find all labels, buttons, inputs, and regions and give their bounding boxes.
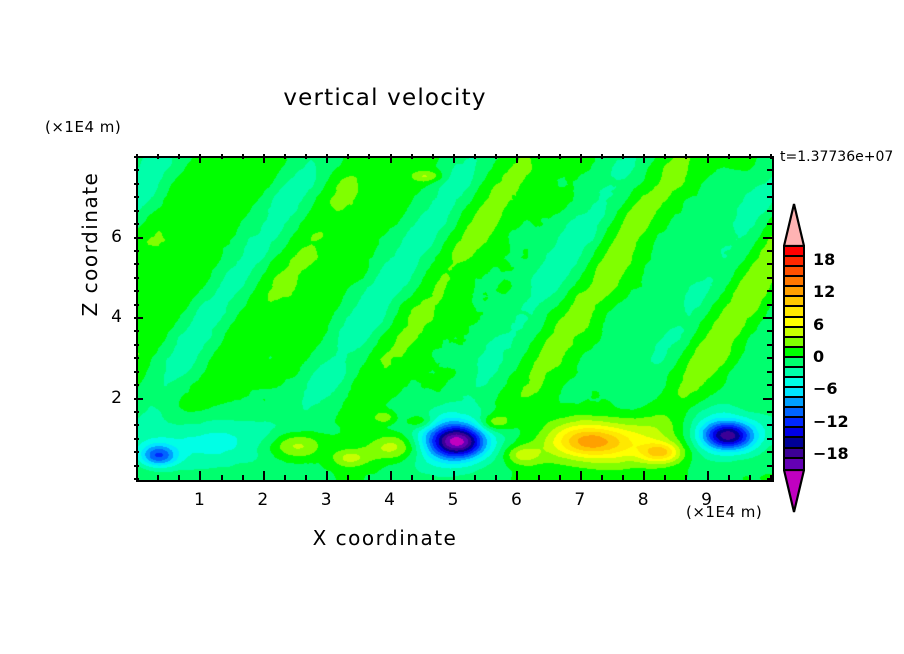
x-tick-label: 8 [628, 490, 658, 510]
x-tick-major [263, 154, 265, 163]
colorbar-band [785, 247, 803, 257]
x-tick-major [516, 154, 518, 163]
x-tick-minor [664, 475, 666, 480]
x-tick-major [326, 471, 328, 480]
y-tick-major [763, 317, 772, 319]
colorbar-band [785, 277, 803, 287]
colorbar-band [785, 338, 803, 348]
y-tick-minor [134, 263, 139, 265]
y-axis-unit-label: (×1E4 m) [45, 118, 121, 136]
x-tick-minor [157, 154, 159, 159]
x-axis-title: X coordinate [0, 526, 770, 550]
colorbar-band [785, 267, 803, 277]
colorbar-tick-label: 6 [813, 315, 824, 334]
colorbar-band [785, 297, 803, 307]
colorbar-tick-label: 18 [813, 250, 835, 269]
y-tick-minor [767, 478, 772, 480]
x-tick-label: 7 [565, 490, 595, 510]
x-tick-label: 2 [248, 490, 278, 510]
page-title: vertical velocity [0, 85, 770, 111]
y-tick-minor [134, 384, 139, 386]
x-tick-major [453, 471, 455, 480]
x-tick-label: 5 [438, 490, 468, 510]
x-tick-major [516, 471, 518, 480]
x-tick-minor [728, 154, 730, 159]
y-tick-minor [134, 223, 139, 225]
y-tick-minor [134, 156, 139, 158]
y-tick-minor [134, 424, 139, 426]
y-tick-label: 6 [92, 227, 122, 247]
y-tick-minor [767, 263, 772, 265]
x-tick-minor [432, 154, 434, 159]
x-tick-minor [728, 475, 730, 480]
y-tick-minor [134, 169, 139, 171]
y-tick-minor [134, 330, 139, 332]
x-tick-major [707, 154, 709, 163]
y-tick-minor [134, 357, 139, 359]
colorbar-band [785, 328, 803, 338]
y-tick-minor [767, 169, 772, 171]
x-tick-minor [305, 154, 307, 159]
vertical-velocity-field [138, 158, 772, 480]
y-tick-minor [767, 451, 772, 453]
x-tick-minor [347, 154, 349, 159]
timestamp-label: t=1.37736e+07 [780, 149, 893, 165]
x-tick-minor [411, 475, 413, 480]
x-tick-minor [284, 475, 286, 480]
y-tick-minor [134, 344, 139, 346]
y-tick-minor [767, 465, 772, 467]
colorbar-tick-label: 12 [813, 282, 835, 301]
y-tick-major [134, 317, 143, 319]
x-tick-major [580, 154, 582, 163]
colorbar-cap-bottom [783, 469, 805, 513]
plot-canvas: vertical velocity (×1E4 m) (×1E4 m) X co… [0, 0, 904, 654]
x-tick-minor [242, 154, 244, 159]
x-tick-minor [749, 154, 751, 159]
x-tick-label: 9 [692, 490, 722, 510]
colorbar-band [785, 398, 803, 408]
y-tick-minor [767, 438, 772, 440]
y-tick-label: 4 [92, 307, 122, 327]
colorbar-tick-label: −6 [813, 379, 838, 398]
colorbar-band [785, 428, 803, 438]
colorbar-band [785, 449, 803, 459]
x-tick-major [707, 471, 709, 480]
y-tick-minor [134, 210, 139, 212]
x-tick-major [390, 154, 392, 163]
colorbar-band [785, 257, 803, 267]
contour-plot-area [136, 156, 774, 482]
y-tick-minor [767, 156, 772, 158]
colorbar-band [785, 408, 803, 418]
colorbar-band [785, 348, 803, 358]
y-tick-major [134, 237, 143, 239]
x-tick-minor [368, 154, 370, 159]
colorbar-tick-label: −18 [813, 444, 849, 463]
y-tick-minor [767, 411, 772, 413]
x-tick-minor [601, 475, 603, 480]
colorbar-band [785, 287, 803, 297]
x-tick-minor [432, 475, 434, 480]
y-tick-major [763, 237, 772, 239]
x-tick-minor [178, 154, 180, 159]
y-tick-minor [767, 223, 772, 225]
colorbar-band [785, 318, 803, 328]
colorbar-tick-label: −12 [813, 412, 849, 431]
y-tick-minor [767, 183, 772, 185]
x-tick-major [326, 154, 328, 163]
y-tick-minor [134, 465, 139, 467]
x-tick-minor [685, 154, 687, 159]
y-tick-minor [767, 384, 772, 386]
y-tick-minor [134, 451, 139, 453]
x-tick-major [580, 471, 582, 480]
colorbar-band [785, 307, 803, 317]
x-tick-label: 1 [184, 490, 214, 510]
y-tick-minor [134, 277, 139, 279]
colorbar-band [785, 378, 803, 388]
colorbar-tick-label: 0 [813, 347, 824, 366]
x-tick-minor [538, 154, 540, 159]
x-tick-minor [221, 475, 223, 480]
x-tick-major [643, 471, 645, 480]
x-tick-minor [347, 475, 349, 480]
colorbar-band [785, 388, 803, 398]
colorbar-band [785, 438, 803, 448]
y-tick-minor [767, 424, 772, 426]
y-tick-minor [767, 344, 772, 346]
x-tick-major [453, 154, 455, 163]
x-tick-major [390, 471, 392, 480]
y-tick-minor [134, 478, 139, 480]
x-tick-label: 3 [311, 490, 341, 510]
x-tick-minor [495, 475, 497, 480]
y-tick-minor [134, 290, 139, 292]
x-tick-minor [749, 475, 751, 480]
y-tick-major [763, 398, 772, 400]
y-tick-minor [134, 411, 139, 413]
y-tick-major [134, 398, 143, 400]
x-tick-minor [559, 154, 561, 159]
x-tick-minor [284, 154, 286, 159]
y-tick-minor [767, 210, 772, 212]
x-tick-minor [305, 475, 307, 480]
x-tick-minor [538, 475, 540, 480]
x-tick-label: 6 [501, 490, 531, 510]
colorbar-band [785, 358, 803, 368]
y-tick-minor [134, 250, 139, 252]
x-tick-minor [411, 154, 413, 159]
colorbar-band [785, 368, 803, 378]
x-tick-minor [221, 154, 223, 159]
x-tick-minor [368, 475, 370, 480]
x-tick-major [263, 471, 265, 480]
y-tick-minor [134, 438, 139, 440]
x-tick-minor [242, 475, 244, 480]
x-tick-minor [559, 475, 561, 480]
y-tick-minor [767, 371, 772, 373]
y-tick-minor [767, 290, 772, 292]
x-tick-minor [622, 154, 624, 159]
x-tick-label: 4 [375, 490, 405, 510]
x-tick-minor [178, 475, 180, 480]
y-tick-label: 2 [92, 388, 122, 408]
y-tick-minor [767, 304, 772, 306]
x-tick-minor [664, 154, 666, 159]
x-tick-minor [622, 475, 624, 480]
x-tick-minor [474, 154, 476, 159]
y-tick-minor [134, 196, 139, 198]
y-tick-minor [134, 183, 139, 185]
y-tick-minor [134, 371, 139, 373]
colorbar-cap-top [783, 203, 805, 247]
y-tick-minor [767, 277, 772, 279]
y-tick-minor [767, 196, 772, 198]
x-tick-minor [495, 154, 497, 159]
x-tick-minor [685, 475, 687, 480]
colorbar [783, 203, 805, 513]
y-tick-minor [134, 304, 139, 306]
x-tick-minor [601, 154, 603, 159]
x-tick-minor [474, 475, 476, 480]
x-tick-major [199, 471, 201, 480]
x-tick-major [199, 154, 201, 163]
x-tick-minor [157, 475, 159, 480]
y-tick-minor [767, 330, 772, 332]
x-tick-major [643, 154, 645, 163]
y-tick-minor [767, 250, 772, 252]
colorbar-band [785, 418, 803, 428]
colorbar-bands [783, 245, 805, 471]
y-tick-minor [767, 357, 772, 359]
colorbar-band [785, 459, 803, 469]
